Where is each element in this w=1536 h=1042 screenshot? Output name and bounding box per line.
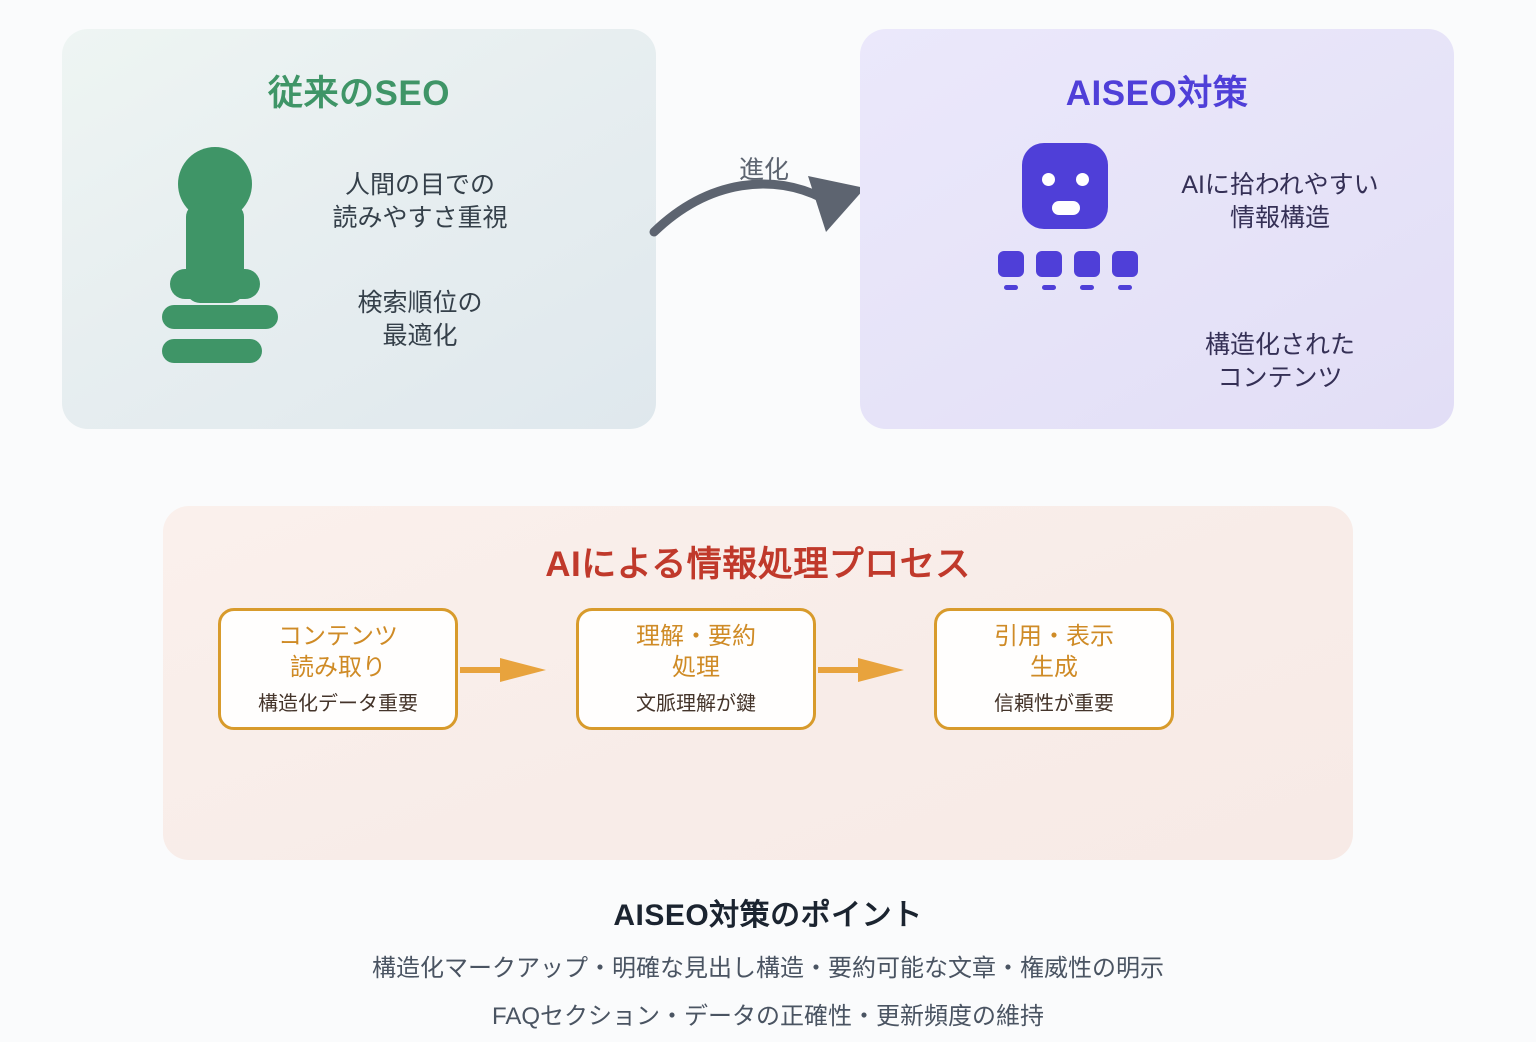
process-arrow-2-icon <box>818 656 918 684</box>
traditional-seo-point-1: 人間の目での 読みやすさ重視 <box>280 169 560 235</box>
aiseo-point-1: AIに拾われやすい 情報構造 <box>1130 169 1430 235</box>
card-aiseo: AISEO対策 AIに拾われやすい 情報構造 構造化された コンテンツ <box>860 29 1454 429</box>
evolve-label: 進化 <box>704 150 824 186</box>
process-arrow-1-icon <box>460 656 560 684</box>
footer-line-1: 構造化マークアップ・明確な見出し構造・要約可能な文章・権威性の明示 <box>0 948 1536 983</box>
card-aiseo-body: AIに拾われやすい 情報構造 構造化された コンテンツ <box>860 29 1454 429</box>
stamp-icon <box>162 147 292 377</box>
ai-process-title: AIによる情報処理プロセス <box>163 536 1353 587</box>
aiseo-point-2: 構造化された コンテンツ <box>1130 329 1430 395</box>
process-step-2-label: 理解・要約 処理 <box>636 622 756 683</box>
process-step-2-sublabel: 文脈理解が鍵 <box>636 687 756 716</box>
infographic-canvas: 従来のSEO 人間の目での 読みやすさ重視 検索順位の 最適化 進化 AISEO… <box>0 0 1536 1042</box>
process-step-1-sublabel: 構造化データ重要 <box>258 687 418 716</box>
card-traditional-seo-body: 人間の目での 読みやすさ重視 検索順位の 最適化 <box>62 29 656 429</box>
traditional-seo-point-2: 検索順位の 最適化 <box>280 287 560 353</box>
process-step-3-label: 引用・表示 生成 <box>994 622 1114 683</box>
card-traditional-seo: 従来のSEO 人間の目での 読みやすさ重視 検索順位の 最適化 <box>62 29 656 429</box>
process-step-1-label: コンテンツ 読み取り <box>278 622 398 683</box>
footer-summary: AISEO対策のポイント 構造化マークアップ・明確な見出し構造・要約可能な文章・… <box>0 890 1536 1031</box>
process-step-2: 理解・要約 処理 文脈理解が鍵 <box>576 608 816 730</box>
footer-line-2: FAQセクション・データの正確性・更新頻度の維持 <box>0 996 1536 1031</box>
process-step-1: コンテンツ 読み取り 構造化データ重要 <box>218 608 458 730</box>
process-step-3: 引用・表示 生成 信頼性が重要 <box>934 608 1174 730</box>
footer-title: AISEO対策のポイント <box>0 890 1536 934</box>
process-step-3-sublabel: 信頼性が重要 <box>994 687 1114 716</box>
